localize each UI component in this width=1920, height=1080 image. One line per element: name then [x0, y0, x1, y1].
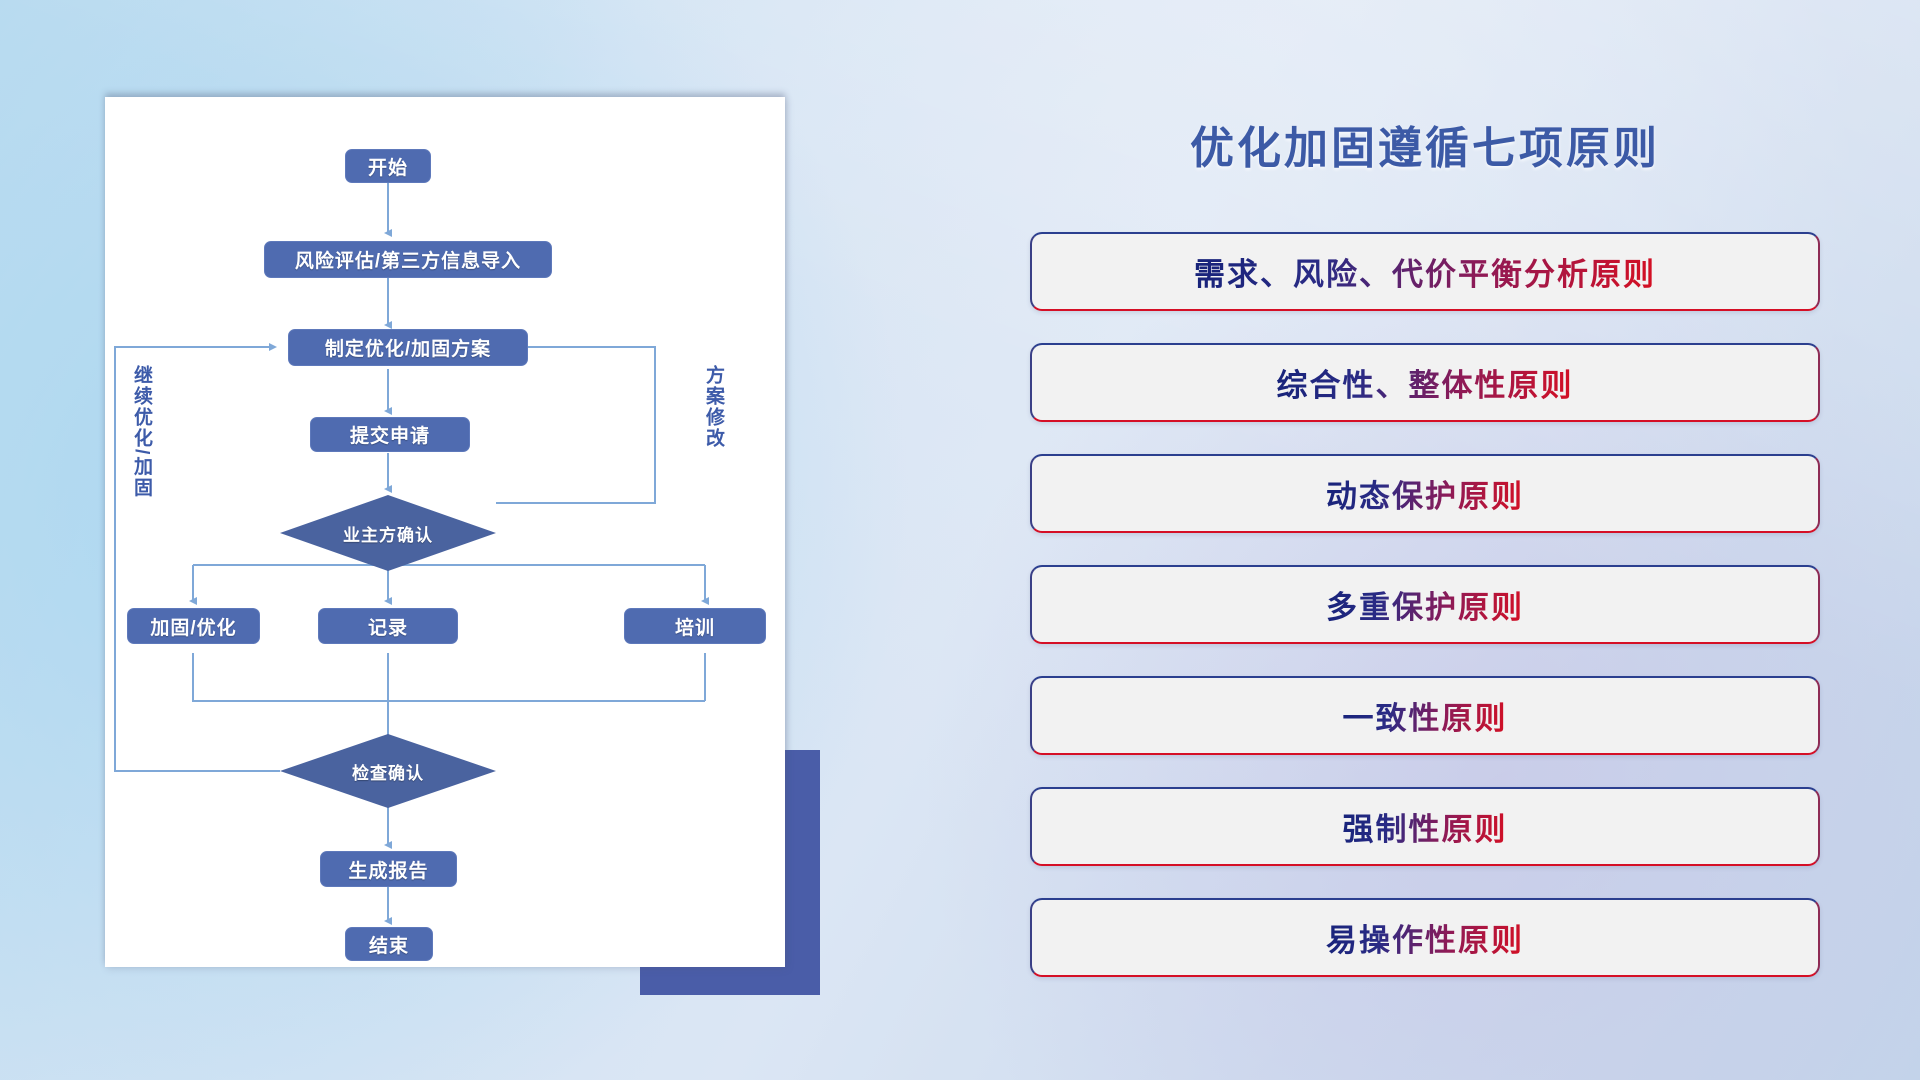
flow-node-training-label: 培训 [675, 613, 715, 640]
flow-node-reinforce-optimize-label: 加固/优化 [150, 613, 236, 640]
principle-card-7[interactable]: 易操作性原则 [1030, 898, 1820, 977]
principle-card-1[interactable]: 需求、风险、代价平衡分析原则 [1030, 232, 1820, 311]
principle-card-6-label: 强制性原则 [1343, 804, 1508, 849]
flow-node-end[interactable]: 结束 [345, 927, 433, 961]
flow-edge-label-right-loop: 方案修改 [703, 365, 723, 449]
principle-card-4[interactable]: 多重保护原则 [1030, 565, 1820, 644]
principle-card-2[interactable]: 综合性、整体性原则 [1030, 343, 1820, 422]
flow-node-risk-assessment-label: 风险评估/第三方信息导入 [295, 246, 521, 273]
flow-node-record-label: 记录 [368, 613, 408, 640]
flowchart: 开始 风险评估/第三方信息导入 制定优化/加固方案 提交申请 业主方确认 加固/… [105, 97, 785, 967]
flow-node-risk-assessment[interactable]: 风险评估/第三方信息导入 [264, 241, 552, 278]
flow-decision-check-confirm-label: 检查确认 [352, 759, 424, 784]
flow-node-start-label: 开始 [368, 153, 408, 180]
principle-card-4-label: 多重保护原则 [1326, 582, 1524, 627]
flowchart-card: 开始 风险评估/第三方信息导入 制定优化/加固方案 提交申请 业主方确认 加固/… [105, 97, 785, 967]
flow-node-record[interactable]: 记录 [318, 608, 458, 644]
flow-edge-label-left-loop: 继续优化/加固 [131, 365, 151, 498]
principles-list: 需求、风险、代价平衡分析原则 综合性、整体性原则 动态保护原则 多重保护原则 一… [1030, 232, 1820, 1009]
principle-card-3[interactable]: 动态保护原则 [1030, 454, 1820, 533]
flow-node-generate-report-label: 生成报告 [348, 856, 428, 883]
principle-card-1-label: 需求、风险、代价平衡分析原则 [1194, 249, 1656, 294]
flow-decision-owner-confirm-label: 业主方确认 [343, 521, 433, 546]
principle-card-3-label: 动态保护原则 [1326, 471, 1524, 516]
principle-card-2-label: 综合性、整体性原则 [1277, 360, 1574, 405]
principle-card-5[interactable]: 一致性原则 [1030, 676, 1820, 755]
principles-title: 优化加固遵循七项原则 [1030, 112, 1820, 176]
flow-node-submit-application[interactable]: 提交申请 [310, 417, 470, 452]
flow-node-reinforce-optimize[interactable]: 加固/优化 [127, 608, 260, 644]
slide-root: 开始 风险评估/第三方信息导入 制定优化/加固方案 提交申请 业主方确认 加固/… [0, 0, 1920, 1080]
principle-card-5-label: 一致性原则 [1343, 693, 1508, 738]
flow-node-end-label: 结束 [369, 931, 409, 958]
principle-card-7-label: 易操作性原则 [1326, 915, 1524, 960]
principle-card-6[interactable]: 强制性原则 [1030, 787, 1820, 866]
flow-node-generate-report[interactable]: 生成报告 [320, 851, 457, 887]
flow-decision-owner-confirm[interactable]: 业主方确认 [280, 495, 496, 571]
flow-node-submit-application-label: 提交申请 [350, 421, 430, 448]
flow-node-make-plan-label: 制定优化/加固方案 [325, 334, 491, 361]
flow-node-make-plan[interactable]: 制定优化/加固方案 [288, 329, 528, 366]
flow-node-training[interactable]: 培训 [624, 608, 766, 644]
flow-decision-check-confirm[interactable]: 检查确认 [280, 734, 496, 808]
flow-node-start[interactable]: 开始 [345, 149, 431, 183]
